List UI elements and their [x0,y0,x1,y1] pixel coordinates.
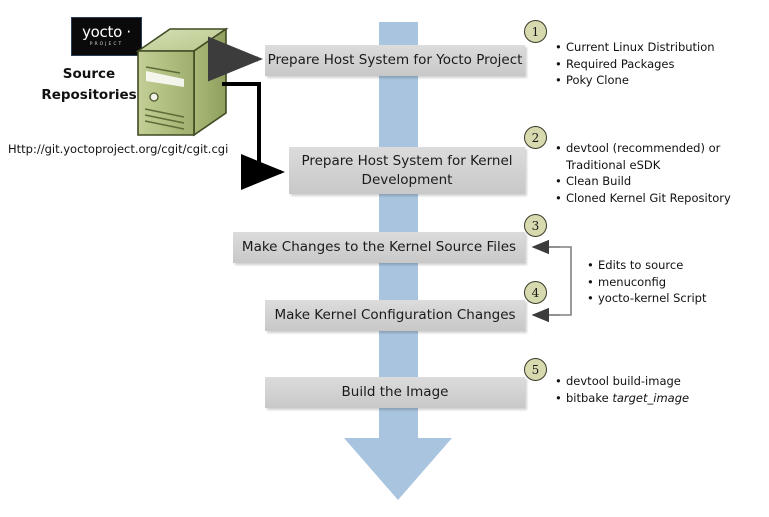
source-repositories-label: Source Repositories [30,64,148,106]
step-box-1-label: Prepare Host System for Yocto Project [268,51,523,70]
source-label-line2: Repositories [30,85,148,106]
step-box-4[interactable]: Make Kernel Configuration Changes [265,300,525,331]
source-repository-url: Http://git.yoctoproject.org/cgit/cgit.cg… [8,142,228,156]
step-box-1[interactable]: Prepare Host System for Yocto Project [265,45,525,76]
steps-3-4-shared-bullets: Edits to source menuconfig yocto-kernel … [585,257,760,307]
source-label-line1: Source [30,64,148,85]
yocto-logo-subtitle: PROJECT [90,41,123,48]
diagram-canvas: yocto · PROJECT Source Repositories Http… [0,0,769,517]
list-item: devtool (recommended) or Traditional eSD… [566,140,758,173]
step-box-2-line1: Prepare Host System for Kernel [301,153,512,169]
bitbake-target-image: target_image [612,391,689,405]
server-tower-icon [134,27,230,139]
step-box-3-label: Make Changes to the Kernel Source Files [242,238,516,257]
yocto-project-logo: yocto · PROJECT [71,17,142,56]
step-box-4-label: Make Kernel Configuration Changes [274,306,515,325]
step-box-3[interactable]: Make Changes to the Kernel Source Files [233,232,525,263]
step-box-2-line2: Development [362,172,453,188]
step-number-2: 2 [524,126,547,149]
bracket-steps-3-4 [538,247,571,315]
yocto-logo-wordmark: yocto · [82,25,131,40]
list-item: Clean Build [566,173,758,190]
step-number-3: 3 [524,214,547,237]
list-item: devtool build-image [566,373,758,390]
bitbake-prefix: bitbake [566,391,612,405]
step-1-bullets: Current Linux Distribution Required Pack… [553,39,758,89]
step-5-bullets: devtool build-image bitbake target_image [553,373,758,406]
connector-server-to-step2 [222,84,281,172]
list-item: bitbake target_image [566,390,758,407]
step-box-2[interactable]: Prepare Host System for Kernel Developme… [289,147,525,194]
list-item: Required Packages [566,56,758,73]
list-item: menuconfig [598,274,760,291]
list-item: Poky Clone [566,72,758,89]
step-2-bullets: devtool (recommended) or Traditional eSD… [553,140,758,206]
step-number-1: 1 [524,20,547,43]
flow-arrow-head-icon [344,438,452,500]
step-number-5: 5 [524,358,547,381]
step-box-5[interactable]: Build the Image [265,377,525,408]
list-item: yocto-kernel Script [598,290,760,307]
list-item: Current Linux Distribution [566,39,758,56]
list-item: Edits to source [598,257,760,274]
step-box-5-label: Build the Image [342,383,449,402]
step-box-2-label: Prepare Host System for Kernel Developme… [301,152,512,190]
step-number-4: 4 [524,281,547,304]
list-item: Cloned Kernel Git Repository [566,190,758,207]
